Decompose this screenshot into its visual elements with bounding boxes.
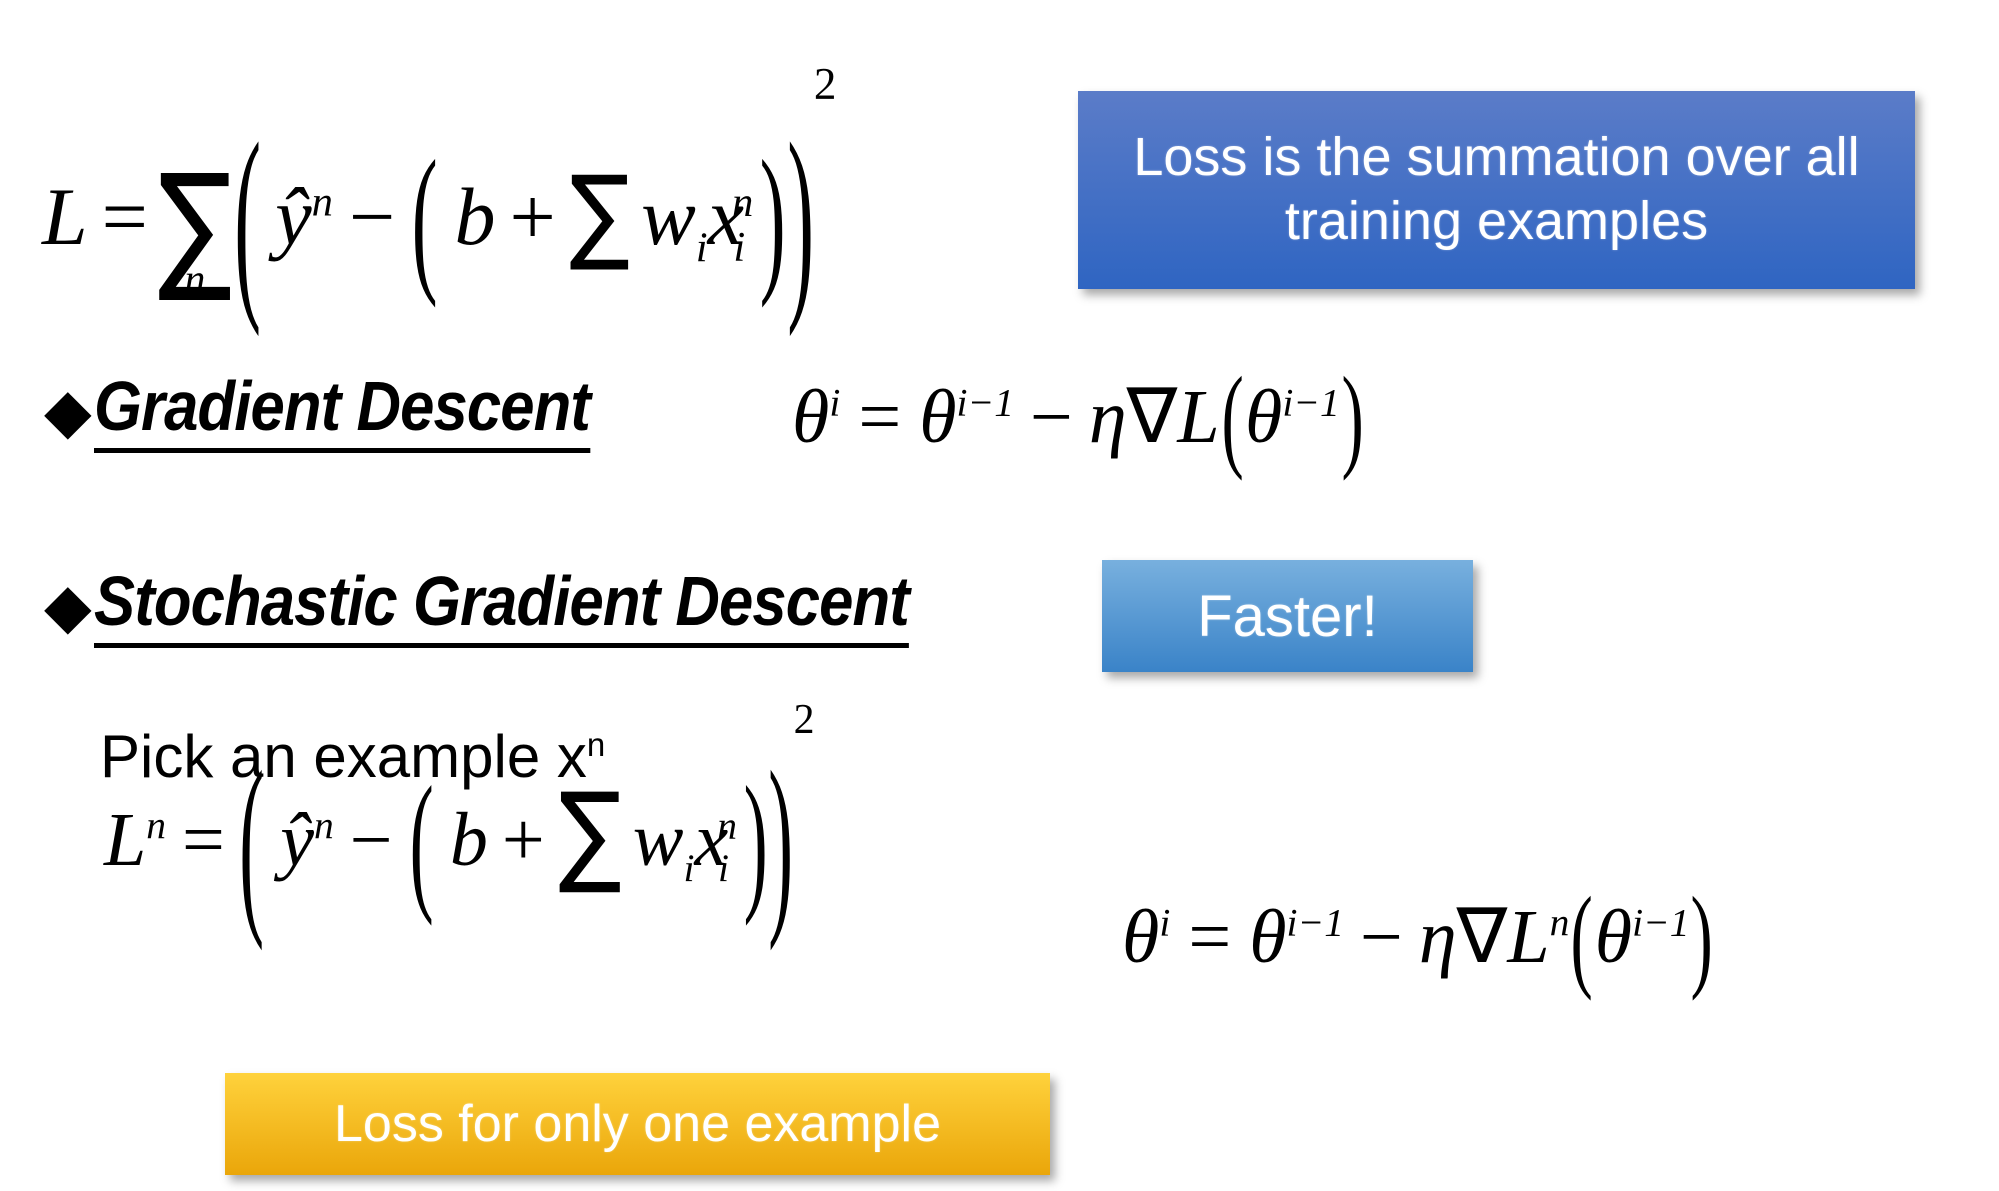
outer-paren-open: (: [234, 112, 261, 327]
loss-lhs-L: L: [42, 171, 88, 262]
callout-faster: Faster!: [1102, 560, 1473, 672]
bias-b: b: [455, 171, 496, 262]
weight-w: w: [633, 798, 684, 882]
callout-faster-text: Faster!: [1197, 583, 1378, 650]
loss-Ln: Ln: [1507, 895, 1569, 979]
callout-loss-summation-text: Loss is the summation over all training …: [1100, 126, 1893, 253]
weight-subscript-i: i: [684, 846, 695, 890]
theta-prev: θi−1: [1249, 895, 1344, 979]
theta-symbol: θ: [1245, 375, 1282, 459]
feature-subscript-i: i: [733, 224, 745, 271]
nabla-icon: ∇: [1457, 891, 1508, 980]
theta-superscript-i-minus-1: i−1: [1632, 901, 1689, 945]
outer-paren-open: (: [239, 743, 264, 942]
equals-sign: =: [858, 375, 901, 459]
theta-arg: θi−1: [1595, 895, 1690, 979]
theta-new: θi: [1122, 895, 1170, 979]
callout-loss-for-one-example: Loss for only one example: [225, 1073, 1050, 1175]
outer-paren-close: ): [769, 743, 794, 942]
stochastic-gradient-descent-update-formula: θi=θi−1−η∇Ln(θi−1): [1122, 898, 1715, 975]
theta-symbol: θ: [1122, 895, 1159, 979]
outer-paren-close: ): [787, 112, 814, 327]
y-hat-symbol: ŷ: [275, 171, 311, 262]
theta-prev: θi−1: [919, 375, 1014, 459]
paren-open: (: [1221, 360, 1243, 476]
plus-sign: +: [502, 798, 545, 882]
inner-paren-open: (: [409, 764, 433, 919]
diamond-bullet-icon: ◆: [44, 575, 92, 637]
weight-w: w: [641, 171, 696, 262]
theta-superscript-i-minus-1: i−1: [957, 381, 1014, 425]
theta-symbol: θ: [1595, 895, 1632, 979]
theta-arg: θi−1: [1245, 375, 1340, 459]
sigma-icon: ∑: [558, 779, 621, 889]
feature-term: xni: [694, 798, 728, 882]
theta-superscript-i-minus-1: i−1: [1282, 381, 1339, 425]
weight-term: wi: [641, 171, 708, 262]
heading-stochastic-gradient-descent: ◆ Stochastic Gradient Descent: [44, 565, 1020, 648]
exponent-two: 2: [794, 697, 815, 743]
diamond-bullet-icon: ◆: [44, 380, 92, 442]
callout-loss-summation: Loss is the summation over all training …: [1078, 91, 1915, 289]
theta-symbol: θ: [792, 375, 829, 459]
theta-superscript-i-minus-1: i−1: [1287, 901, 1344, 945]
exponent-two: 2: [814, 59, 837, 109]
inner-paren-open: (: [412, 137, 438, 301]
theta-superscript-i: i: [1159, 901, 1170, 945]
gradient-descent-update-formula: θi=θi−1−η∇L(θi−1): [792, 378, 1365, 455]
heading-stochastic-gradient-descent-label: Stochastic Gradient Descent: [94, 565, 909, 648]
y-hat-superscript-n: n: [312, 179, 333, 226]
summation-index-n: n: [184, 259, 205, 301]
feature-term: xni: [708, 171, 746, 262]
inner-paren-close: ): [744, 764, 768, 919]
y-hat-term: ŷn: [275, 171, 333, 262]
inner-paren-close: ): [760, 137, 786, 301]
heading-gradient-descent-label: Gradient Descent: [94, 370, 590, 453]
weight-subscript-i: i: [696, 224, 708, 271]
paren-open: (: [1571, 880, 1593, 996]
theta-superscript-i: i: [829, 381, 840, 425]
plus-sign: +: [510, 171, 556, 262]
loss-superscript-n: n: [1550, 901, 1570, 945]
paren-close: ): [1341, 360, 1363, 476]
sigma-icon-inner: ∑: [569, 162, 629, 266]
bias-b: b: [450, 798, 488, 882]
loss-superscript-n: n: [146, 804, 166, 848]
paren-close: ): [1691, 880, 1713, 996]
y-hat-term: ŷn: [280, 798, 334, 882]
equals-sign: =: [1188, 895, 1231, 979]
minus-sign: −: [1030, 375, 1073, 459]
minus-sign: −: [350, 798, 393, 882]
minus-sign: −: [349, 171, 395, 262]
feature-superscript-n: n: [717, 804, 737, 848]
theta-symbol: θ: [919, 375, 956, 459]
theta-new: θi: [792, 375, 840, 459]
learning-rate-eta: η: [1089, 375, 1127, 459]
equals-sign: =: [182, 798, 225, 882]
summation-over-n: ∑ n: [160, 173, 230, 277]
theta-symbol: θ: [1249, 895, 1286, 979]
callout-one-example-text: Loss for only one example: [334, 1094, 941, 1154]
nabla-icon: ∇: [1127, 371, 1178, 460]
loss-L: L: [1177, 375, 1219, 459]
weight-term: wi: [633, 798, 695, 882]
learning-rate-eta: η: [1419, 895, 1457, 979]
heading-gradient-descent: ◆ Gradient Descent: [44, 370, 657, 453]
feature-subscript-i: i: [718, 846, 729, 890]
loss-lhs-Ln: Ln: [104, 798, 166, 882]
feature-superscript-n: n: [732, 179, 753, 226]
y-hat-symbol: ŷ: [280, 798, 314, 882]
single-example-loss-formula: Ln=(ŷn−(b+∑wixni))2: [104, 700, 815, 880]
minus-sign: −: [1360, 895, 1403, 979]
equals-sign: =: [102, 171, 148, 262]
total-loss-formula: L= ∑ n (ŷn−(b+∑wixni))2: [42, 62, 836, 277]
loss-L: L: [1507, 895, 1549, 979]
loss-L: L: [104, 798, 146, 882]
y-hat-superscript-n: n: [314, 804, 334, 848]
